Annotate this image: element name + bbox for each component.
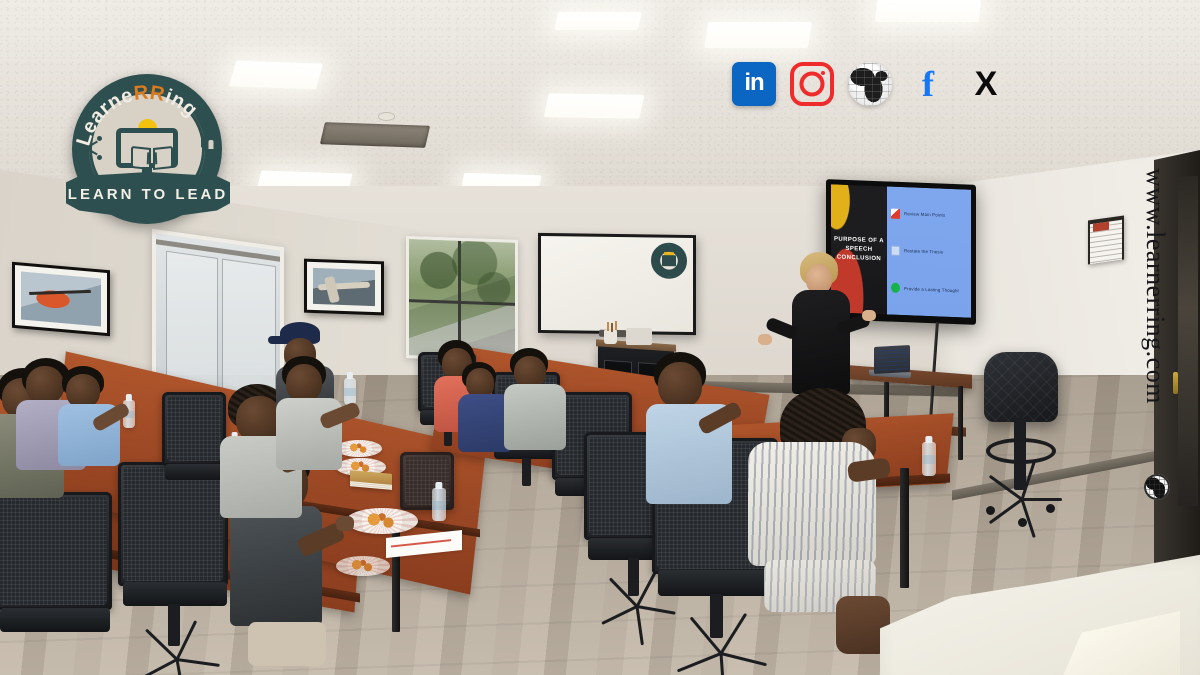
logo-tagline-banner: LEARN TO LEAD <box>66 172 230 224</box>
slide-bullet: Restate the Thesis <box>891 246 967 259</box>
learnerring-logo: LearneRRing <box>64 72 232 230</box>
smoke-detector-icon <box>378 112 395 121</box>
book-spine <box>147 152 158 164</box>
chair-seat <box>123 582 227 606</box>
slide-bullet: Review Main Points <box>891 208 967 221</box>
presenter-right-hand <box>862 310 876 321</box>
door-handle[interactable] <box>1173 372 1178 394</box>
ceiling-light-panel <box>229 60 324 89</box>
helicopter-image <box>21 272 101 327</box>
slide-bullet-text: Review Main Points <box>904 211 945 218</box>
stool-caster <box>1046 504 1055 513</box>
framed-helicopter-photo <box>12 262 110 337</box>
paper-plate-with-food <box>346 508 418 534</box>
classroom-photo: PURPOSE OF A SPEECH CONCLUSION Review Ma… <box>0 0 1200 675</box>
slide-bullet-text: Provide a Lasting Thought <box>904 286 959 293</box>
ceiling-light-panel <box>704 22 812 48</box>
chair-post <box>522 458 531 486</box>
open-book-icon <box>131 147 173 169</box>
x-twitter-icon[interactable]: X <box>964 62 1008 106</box>
framed-certificate <box>1088 215 1124 264</box>
stool-caster <box>986 506 995 515</box>
ceiling-light-panel <box>544 93 645 119</box>
tissue-box <box>626 328 652 345</box>
water-bottle <box>922 442 936 476</box>
student-head <box>66 374 100 408</box>
window-mullion <box>409 299 515 306</box>
chart-icon <box>891 208 900 218</box>
water-bottle <box>432 488 446 521</box>
ceiling-air-vent <box>320 122 430 148</box>
door-glass-panel <box>1178 176 1198 506</box>
x-glyph: X <box>964 62 1008 106</box>
linkedin-icon[interactable]: in <box>732 62 776 106</box>
facebook-glyph: f <box>906 62 950 106</box>
student <box>276 356 362 476</box>
ceiling-light-panel <box>554 12 642 30</box>
document-icon <box>891 246 900 256</box>
stool-caster <box>1018 518 1027 527</box>
laptop-screen[interactable] <box>874 345 910 374</box>
pencil-cup <box>604 330 617 344</box>
student <box>58 366 142 466</box>
logo-name-accent: RR <box>133 82 167 106</box>
table-leg <box>900 468 909 588</box>
social-media-icons: in f X <box>732 57 1008 111</box>
presenter-left-hand <box>758 334 772 345</box>
framed-osprey-aircraft-photo <box>304 259 384 316</box>
ceiling-light-panel <box>875 0 981 22</box>
linkedin-glyph: in <box>732 62 776 106</box>
chair-backrest <box>162 392 226 466</box>
student-head <box>658 362 702 408</box>
photo-mat <box>15 265 107 333</box>
logo-tagline: LEARN TO LEAD <box>66 172 230 224</box>
laptop-display <box>876 347 908 372</box>
student <box>740 388 900 658</box>
globe-icon[interactable] <box>848 62 892 106</box>
whiteboard-surface <box>541 236 693 332</box>
share-nodes-icon <box>82 136 102 160</box>
globe-icon <box>1144 474 1170 500</box>
website-url[interactable]: www.learnerring.com <box>1140 168 1170 404</box>
learnerring-badge-icon <box>651 242 687 279</box>
office-chair[interactable] <box>0 492 124 675</box>
slide-bullets-panel: Review Main Points Restate the Thesis Pr… <box>887 186 971 317</box>
student-leg <box>248 622 326 666</box>
whiteboard <box>538 233 696 335</box>
chair-mesh <box>167 397 221 461</box>
osprey-image <box>313 268 375 306</box>
chair-seat <box>0 608 110 632</box>
instagram-icon[interactable] <box>790 62 834 106</box>
chair-seat <box>165 464 223 480</box>
slide-bullet: Provide a Lasting Thought <box>891 283 967 296</box>
student-torso <box>276 398 342 470</box>
student-arm <box>847 457 891 483</box>
student-torso <box>504 384 566 450</box>
student <box>504 348 580 450</box>
slide-bullet-text: Restate the Thesis <box>904 249 943 256</box>
monitor-body <box>116 128 178 168</box>
monitor-icon <box>116 120 178 174</box>
certificate-paper <box>1090 220 1122 264</box>
facebook-icon[interactable]: f <box>906 62 950 106</box>
green-dot-icon <box>891 283 900 293</box>
photo-mat <box>307 262 381 313</box>
student-head <box>286 364 322 402</box>
student-hand <box>336 516 354 531</box>
chair-base <box>134 640 220 675</box>
